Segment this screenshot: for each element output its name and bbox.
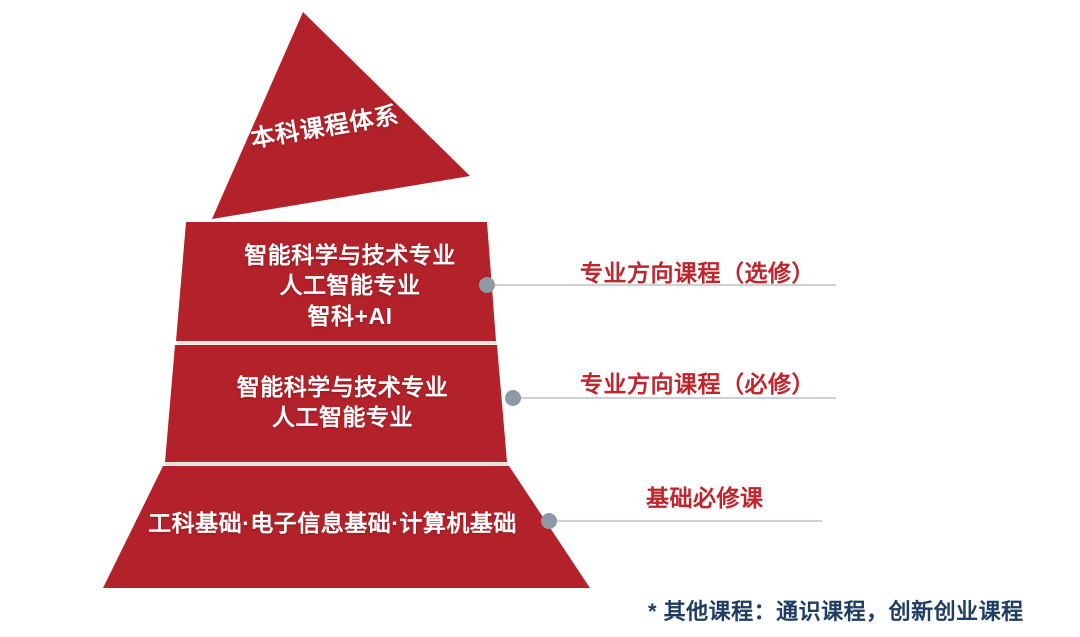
pyramid-tier-4-shape	[103, 466, 590, 588]
annotation-tier-3: 专业方向课程（必修）	[580, 365, 815, 399]
diagram-canvas: 本科课程体系 智能科学与技术专业 人工智能专业 智科+AI 智能科学与技术专业 …	[0, 0, 1080, 637]
connector-dot-tier-3	[505, 390, 521, 406]
annotation-tier-4: 基础必修课	[646, 479, 764, 513]
pyramid-tier-3-shape	[165, 345, 507, 462]
annotation-tier-2: 专业方向课程（选修）	[580, 254, 815, 288]
pyramid-graphic	[0, 0, 1080, 637]
footnote-text: * 其他课程：通识课程，创新创业课程	[648, 594, 1024, 626]
pyramid-tier-2-shape	[176, 222, 496, 341]
connector-dot-tier-2	[479, 277, 495, 293]
pyramid-apex-shape	[212, 12, 470, 219]
connector-dot-tier-4	[541, 513, 557, 529]
